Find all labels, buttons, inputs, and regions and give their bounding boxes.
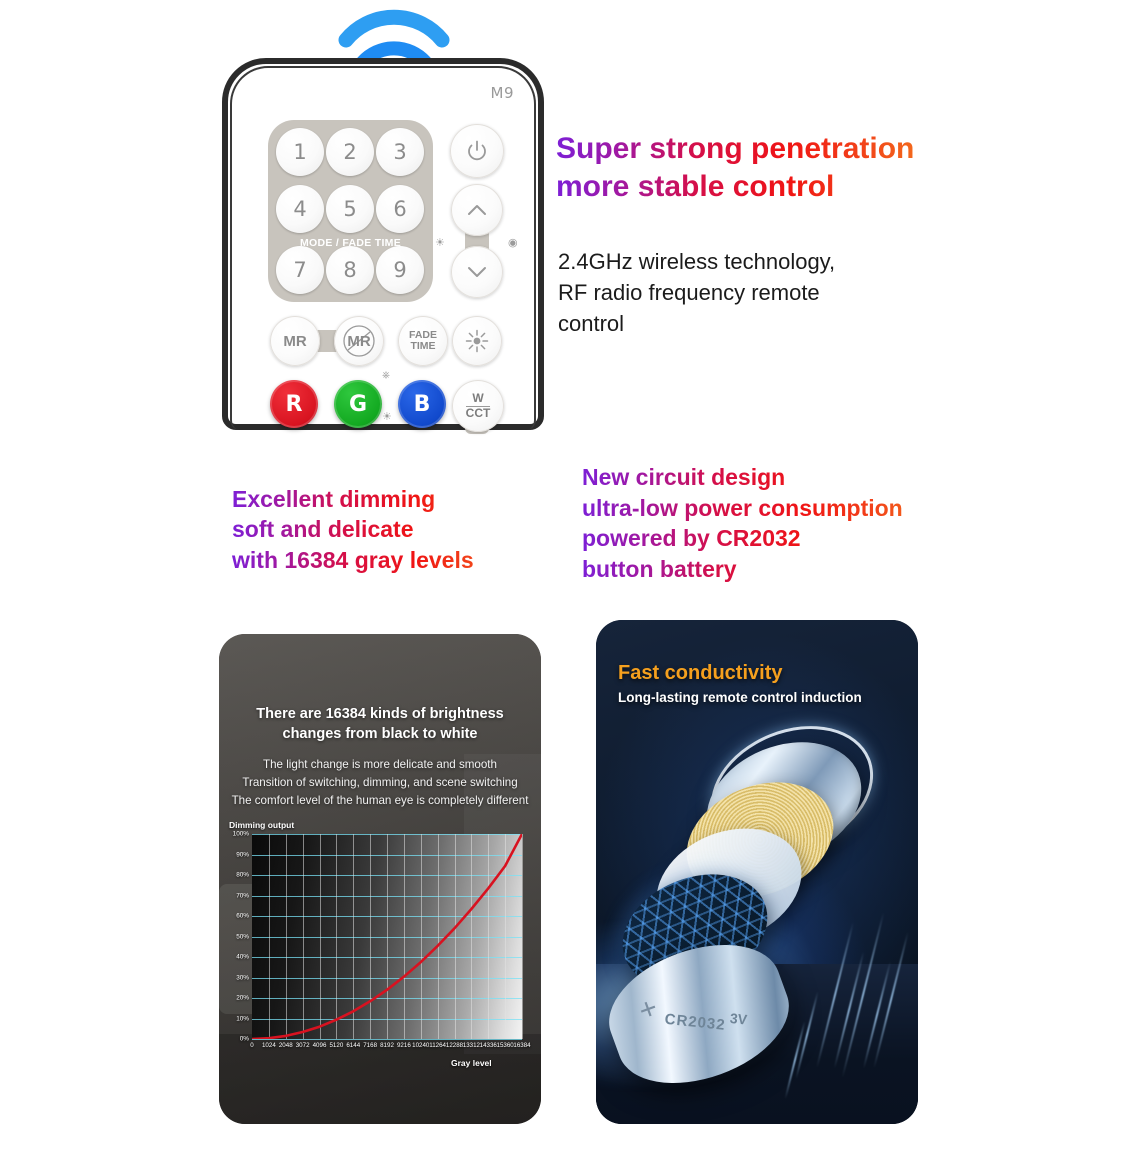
- battery-model-marking: CR2032: [664, 1011, 726, 1034]
- chart-y-tick: 80%: [236, 872, 249, 879]
- power-button[interactable]: [450, 124, 504, 178]
- chart-x-tick: 11264: [429, 1042, 446, 1049]
- key-4[interactable]: 4: [276, 185, 324, 233]
- chart-x-tick: 12288: [446, 1042, 463, 1049]
- chart-y-tick: 20%: [236, 995, 249, 1002]
- left-caption-line-1: Excellent dimming: [232, 484, 562, 514]
- right-caption-line-4: button battery: [582, 554, 982, 585]
- w-cct-button[interactable]: W CCT: [452, 380, 504, 432]
- mr-label: MR: [283, 333, 306, 350]
- w-cct-label: W CCT: [466, 392, 491, 419]
- chart-curve: [252, 834, 522, 1039]
- key-3[interactable]: 3: [376, 128, 424, 176]
- right-feature-caption: New circuit design ultra-low power consu…: [582, 462, 982, 584]
- battery-plus-marking: +: [635, 993, 662, 1027]
- power-icon: [464, 138, 490, 164]
- chart-y-tick: 90%: [236, 851, 249, 858]
- chart-x-tick: 8192: [380, 1042, 394, 1049]
- chart-x-tick: 4096: [313, 1042, 327, 1049]
- chevron-down-icon: [465, 264, 489, 280]
- panel-right-subtitle: Long-lasting remote control induction: [618, 690, 862, 705]
- chart-x-tick: 9216: [397, 1042, 411, 1049]
- chart-x-tick: 2048: [279, 1042, 293, 1049]
- key-8[interactable]: 8: [326, 246, 374, 294]
- headline-subtext: 2.4GHz wireless technology, RF radio fre…: [558, 246, 958, 340]
- subtext-line-3: control: [558, 308, 958, 339]
- chart-hgrid-line: [252, 1039, 522, 1040]
- panel-left-body-line-2: Transition of switching, dimming, and sc…: [225, 774, 535, 792]
- chart-x-tick: 5120: [329, 1042, 343, 1049]
- key-1[interactable]: 1: [276, 128, 324, 176]
- chart-x-axis-label: Gray level: [451, 1058, 492, 1068]
- chart-y-tick: 40%: [236, 954, 249, 961]
- chart-x-tick: 7168: [363, 1042, 377, 1049]
- chart-x-tick: 0: [250, 1042, 253, 1049]
- sun-small-icon: ☀: [382, 410, 392, 423]
- chart-y-axis-label: Dimming output: [229, 820, 294, 830]
- chart-x-tick: 3072: [296, 1042, 310, 1049]
- chart-y-tick: 60%: [236, 913, 249, 920]
- chart-y-tick: 30%: [236, 974, 249, 981]
- fade-time-button[interactable]: FADE TIME: [398, 316, 448, 366]
- brightness-button[interactable]: [452, 316, 502, 366]
- chart-x-tick: 6144: [346, 1042, 360, 1049]
- wcct-top-label: W: [466, 392, 491, 407]
- panel-left-title-line-1: There are 16384 kinds of brightness: [256, 706, 503, 722]
- chart-x-tick: 1024: [262, 1042, 276, 1049]
- remote-model-label: M9: [491, 84, 515, 102]
- panel-left-body-line-1: The light change is more delicate and sm…: [225, 756, 535, 774]
- wcct-bottom-label: CCT: [466, 406, 491, 420]
- chart-y-tick: 100%: [233, 831, 249, 838]
- blue-button[interactable]: B: [398, 380, 446, 428]
- chart-x-tick: 10240: [412, 1042, 429, 1049]
- panel-left-title: There are 16384 kinds of brightness chan…: [235, 704, 525, 744]
- battery-voltage-marking: 3V: [729, 1010, 748, 1028]
- headline-line-2: more stable control: [556, 168, 976, 206]
- panel-left-body: The light change is more delicate and sm…: [225, 756, 535, 810]
- dimming-chart-panel: There are 16384 kinds of brightness chan…: [219, 634, 541, 1124]
- mr-button[interactable]: MR: [270, 316, 320, 366]
- subtext-line-2: RF radio frequency remote: [558, 277, 958, 308]
- fade-line-2: TIME: [410, 340, 435, 352]
- remote-control: M9 1 2 3 4 5 6 MODE / FADE TIME 7 8 9 ☀ …: [222, 58, 544, 430]
- mr-off-button[interactable]: MR: [334, 316, 384, 366]
- chart-x-tick: 15360: [497, 1042, 514, 1049]
- chart-y-tick: 0%: [240, 1036, 249, 1043]
- page-headline: Super strong penetration more stable con…: [556, 130, 976, 207]
- panel-left-title-line-2: changes from black to white: [283, 726, 478, 742]
- brightness-icon: ☀: [435, 236, 445, 249]
- dimming-chart: 0%10%20%30%40%50%60%70%80%90%100%0102420…: [252, 834, 522, 1039]
- key-9[interactable]: 9: [376, 246, 424, 294]
- keypad-pad: 1 2 3 4 5 6 MODE / FADE TIME 7 8 9: [268, 120, 433, 302]
- left-caption-line-3: with 16384 gray levels: [232, 545, 562, 575]
- right-caption-line-2: ultra-low power consumption: [582, 493, 982, 524]
- chart-y-tick: 70%: [236, 892, 249, 899]
- key-2[interactable]: 2: [326, 128, 374, 176]
- chart-vgrid-line: [522, 834, 523, 1039]
- left-caption-line-2: soft and delicate: [232, 514, 562, 544]
- chart-y-tick: 10%: [236, 1015, 249, 1022]
- fast-conductivity-panel: + CR2032 3V Fast conductivity Long-lasti…: [596, 620, 918, 1124]
- green-button[interactable]: G: [334, 380, 382, 428]
- chart-y-tick: 50%: [236, 933, 249, 940]
- fade-time-label: FADE TIME: [409, 330, 437, 352]
- sun-icon: [464, 328, 490, 354]
- right-caption-line-3: powered by CR2032: [582, 523, 982, 554]
- panel-right-title: Fast conductivity: [618, 662, 782, 685]
- key-7[interactable]: 7: [276, 246, 324, 294]
- brightness-down-button[interactable]: [451, 246, 503, 298]
- left-feature-caption: Excellent dimming soft and delicate with…: [232, 484, 562, 575]
- chart-x-tick: 13312: [463, 1042, 480, 1049]
- subtext-line-1: 2.4GHz wireless technology,: [558, 246, 958, 277]
- chart-x-tick: 16384: [513, 1042, 530, 1049]
- mr-off-label: MR: [347, 333, 370, 350]
- right-caption-line-1: New circuit design: [582, 462, 982, 493]
- red-button[interactable]: R: [270, 380, 318, 428]
- key-6[interactable]: 6: [376, 185, 424, 233]
- power-small-icon: ⎈: [382, 370, 390, 381]
- chart-x-tick: 14336: [480, 1042, 497, 1049]
- headline-line-1: Super strong penetration: [556, 130, 976, 168]
- timer-icon: ◉: [508, 236, 518, 249]
- panel-left-body-line-3: The comfort level of the human eye is co…: [225, 792, 535, 810]
- chevron-up-icon: [465, 202, 489, 218]
- key-5[interactable]: 5: [326, 185, 374, 233]
- brightness-up-button[interactable]: [451, 184, 503, 236]
